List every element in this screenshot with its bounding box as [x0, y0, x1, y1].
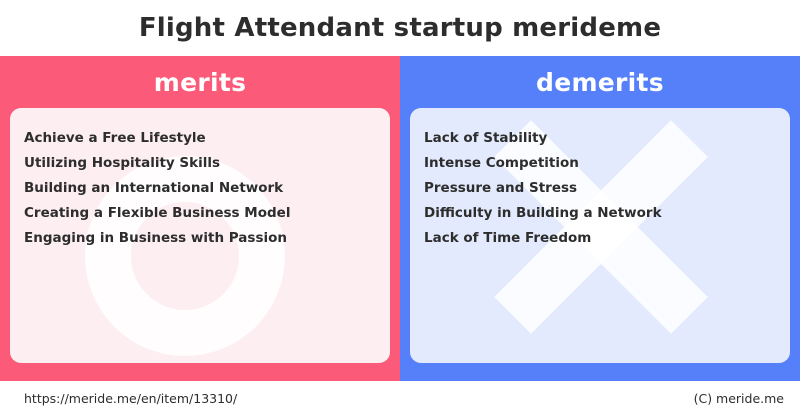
list-item: Intense Competition: [424, 151, 770, 176]
list-item: Building an International Network: [24, 176, 370, 201]
demerits-card: Lack of Stability Intense Competition Pr…: [410, 108, 790, 363]
footer: https://meride.me/en/item/13310/ (C) mer…: [0, 381, 800, 418]
footer-source-url[interactable]: https://meride.me/en/item/13310/: [24, 391, 237, 406]
list-item: Difficulty in Building a Network: [424, 201, 770, 226]
merits-list: Achieve a Free Lifestyle Utilizing Hospi…: [10, 108, 390, 251]
panel-demerits-heading: demerits: [400, 56, 800, 108]
list-item: Utilizing Hospitality Skills: [24, 151, 370, 176]
comparison-panels: merits Achieve a Free Lifestyle Utilizin…: [0, 56, 800, 381]
list-item: Lack of Time Freedom: [424, 226, 770, 251]
list-item: Engaging in Business with Passion: [24, 226, 370, 251]
list-item: Creating a Flexible Business Model: [24, 201, 370, 226]
merits-card: Achieve a Free Lifestyle Utilizing Hospi…: [10, 108, 390, 363]
list-item: Achieve a Free Lifestyle: [24, 126, 370, 151]
page-title: Flight Attendant startup merideme: [139, 13, 661, 43]
footer-copyright: (C) meride.me: [694, 391, 784, 406]
list-item: Pressure and Stress: [424, 176, 770, 201]
list-item: Lack of Stability: [424, 126, 770, 151]
title-bar: Flight Attendant startup merideme: [0, 0, 800, 56]
panel-merits-heading: merits: [0, 56, 400, 108]
demerits-list: Lack of Stability Intense Competition Pr…: [410, 108, 790, 251]
slide-root: Flight Attendant startup merideme merits…: [0, 0, 800, 418]
panel-merits: merits Achieve a Free Lifestyle Utilizin…: [0, 56, 400, 381]
panel-demerits: demerits Lack of Stability Intense Compe…: [400, 56, 800, 381]
